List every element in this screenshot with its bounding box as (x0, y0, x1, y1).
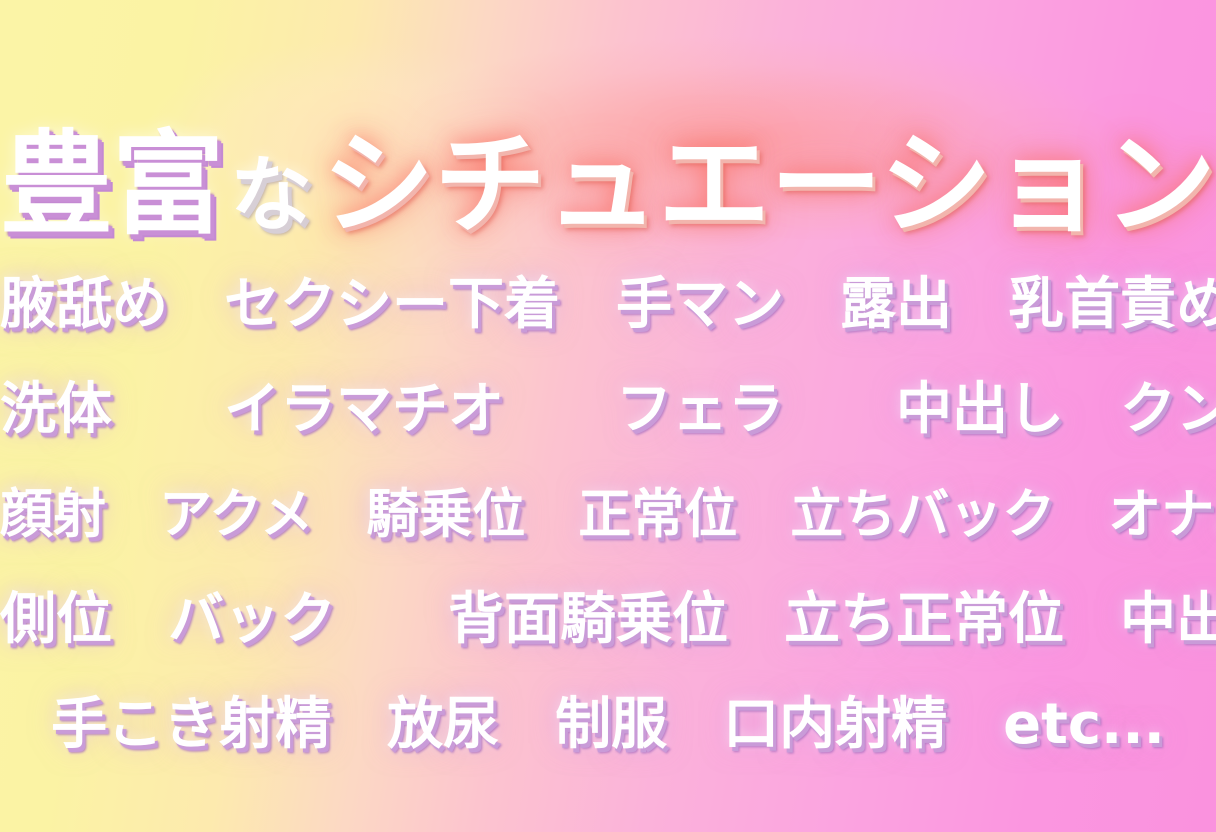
headline-segment-kana: な (230, 154, 312, 238)
headline-segment-kanji: 豊富 (0, 128, 224, 242)
tag-line: 腋舐め セクシー下着 手マン 露出 乳首責め (0, 252, 1216, 357)
promo-banner: 豊富なシチュエーション 腋舐め セクシー下着 手マン 露出 乳首責め 洗体 イラ… (0, 0, 1216, 832)
tag-line: 手こき射精 放尿 制服 口内射精 etc... (0, 672, 1216, 777)
tag-line: 洗体 イラマチオ フェラ 中出し クンニ (0, 357, 1216, 462)
headline-segment-katakana: シチュエーション (322, 128, 1216, 242)
tag-line: 側位 バック 背面騎乗位 立ち正常位 中出し (0, 567, 1216, 672)
banner-content: 豊富なシチュエーション 腋舐め セクシー下着 手マン 露出 乳首責め 洗体 イラ… (0, 0, 1216, 832)
tag-line: 顔射 アクメ 騎乗位 正常位 立ちバック オナニー (0, 462, 1216, 567)
tag-line-list: 腋舐め セクシー下着 手マン 露出 乳首責め 洗体 イラマチオ フェラ 中出し … (0, 252, 1216, 777)
headline: 豊富なシチュエーション (0, 128, 1216, 242)
